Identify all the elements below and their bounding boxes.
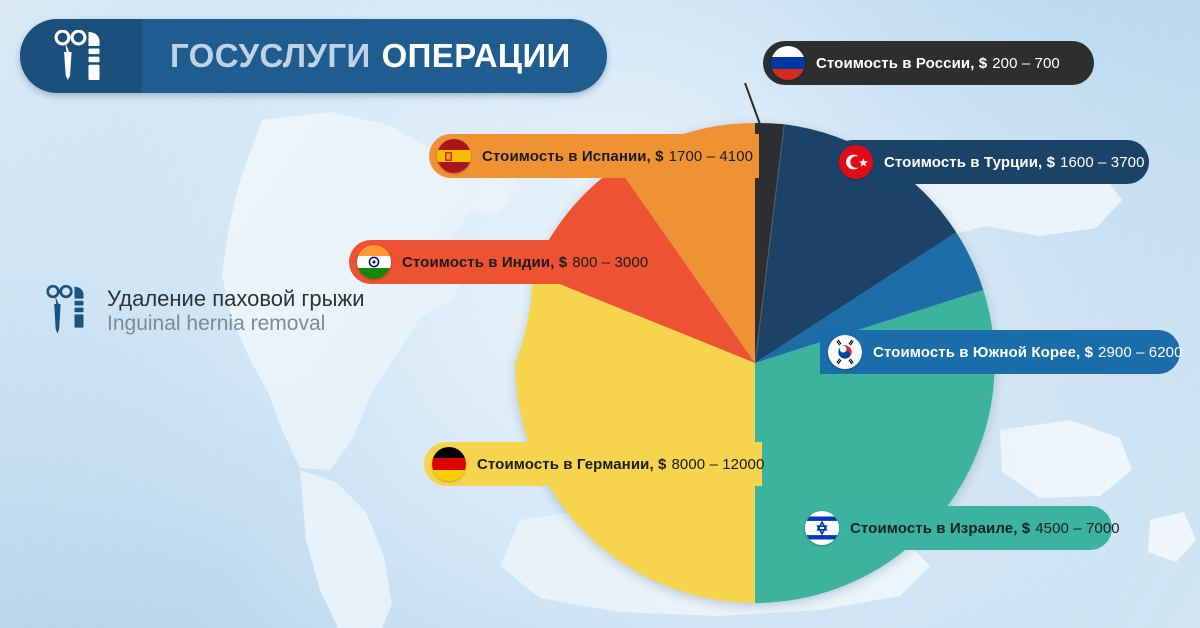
callout-spain-label: Стоимость в Испании, $ (482, 148, 664, 165)
callout-india-amount: 800 – 3000 (572, 254, 648, 271)
flag-south-korea-icon (828, 335, 862, 369)
callout-israel-amount: 4500 – 7000 (1035, 520, 1120, 537)
brand-word-2: ОПЕРАЦИИ (382, 37, 571, 75)
callout-israel[interactable]: Стоимость в Израиле, $4500 – 7000 (797, 506, 1112, 550)
callout-turkey[interactable]: Стоимость в Турции, $1600 – 3700 (831, 140, 1149, 184)
callout-spain[interactable]: Стоимость в Испании, $1700 – 4100 (429, 134, 759, 178)
flag-spain-icon (437, 139, 471, 173)
callout-israel-label: Стоимость в Израиле, $ (850, 520, 1030, 537)
callout-germany[interactable]: Стоимость в Германии, $8000 – 12000 (424, 442, 762, 486)
brand-title: ГОСУСЛУГИ ОПЕРАЦИИ (142, 19, 607, 93)
callout-spain-text: Стоимость в Испании, $1700 – 4100 (482, 148, 753, 165)
callout-russia-text: Стоимость в России, $200 – 700 (816, 55, 1060, 72)
callout-russia-amount: 200 – 700 (992, 55, 1060, 72)
procedure-title-ru: Удаление паховой грыжи (107, 287, 364, 312)
flag-india-icon (357, 245, 391, 279)
callout-russia-label: Стоимость в России, $ (816, 55, 987, 72)
callout-germany-label: Стоимость в Германии, $ (477, 456, 666, 473)
callout-india-label: Стоимость в Индии, $ (402, 254, 567, 271)
callout-south-korea-label: Стоимость в Южной Корее, $ (873, 344, 1093, 361)
flag-russia-icon (771, 46, 805, 80)
logo-icon-container (20, 19, 142, 93)
callout-turkey-text: Стоимость в Турции, $1600 – 3700 (884, 154, 1145, 171)
callout-india-text: Стоимость в Индии, $800 – 3000 (402, 254, 648, 271)
scissors-scalpel-icon (45, 285, 89, 337)
procedure-title-block: Удаление паховой грыжи Inguinal hernia r… (45, 285, 364, 337)
callout-turkey-label: Стоимость в Турции, $ (884, 154, 1055, 171)
flag-turkey-icon (839, 145, 873, 179)
callout-russia[interactable]: Стоимость в России, $200 – 700 (763, 41, 1094, 85)
callout-south-korea[interactable]: Стоимость в Южной Корее, $2900 – 6200 (820, 330, 1180, 374)
brand-word-1: ГОСУСЛУГИ (170, 37, 371, 75)
callout-turkey-amount: 1600 – 3700 (1060, 154, 1145, 171)
scissors-scalpel-icon (53, 30, 109, 82)
brand-logo[interactable]: ГОСУСЛУГИ ОПЕРАЦИИ (20, 19, 607, 93)
callout-south-korea-amount: 2900 – 6200 (1098, 344, 1183, 361)
callout-south-korea-text: Стоимость в Южной Корее, $2900 – 6200 (873, 344, 1183, 361)
callout-israel-text: Стоимость в Израиле, $4500 – 7000 (850, 520, 1120, 537)
callout-india[interactable]: Стоимость в Индии, $800 – 3000 (349, 240, 659, 284)
callout-germany-text: Стоимость в Германии, $8000 – 12000 (477, 456, 764, 473)
callout-spain-amount: 1700 – 4100 (669, 148, 754, 165)
procedure-title-en: Inguinal hernia removal (107, 312, 364, 336)
flag-israel-icon (805, 511, 839, 545)
flag-germany-icon (432, 447, 466, 481)
callout-germany-amount: 8000 – 12000 (671, 456, 764, 473)
